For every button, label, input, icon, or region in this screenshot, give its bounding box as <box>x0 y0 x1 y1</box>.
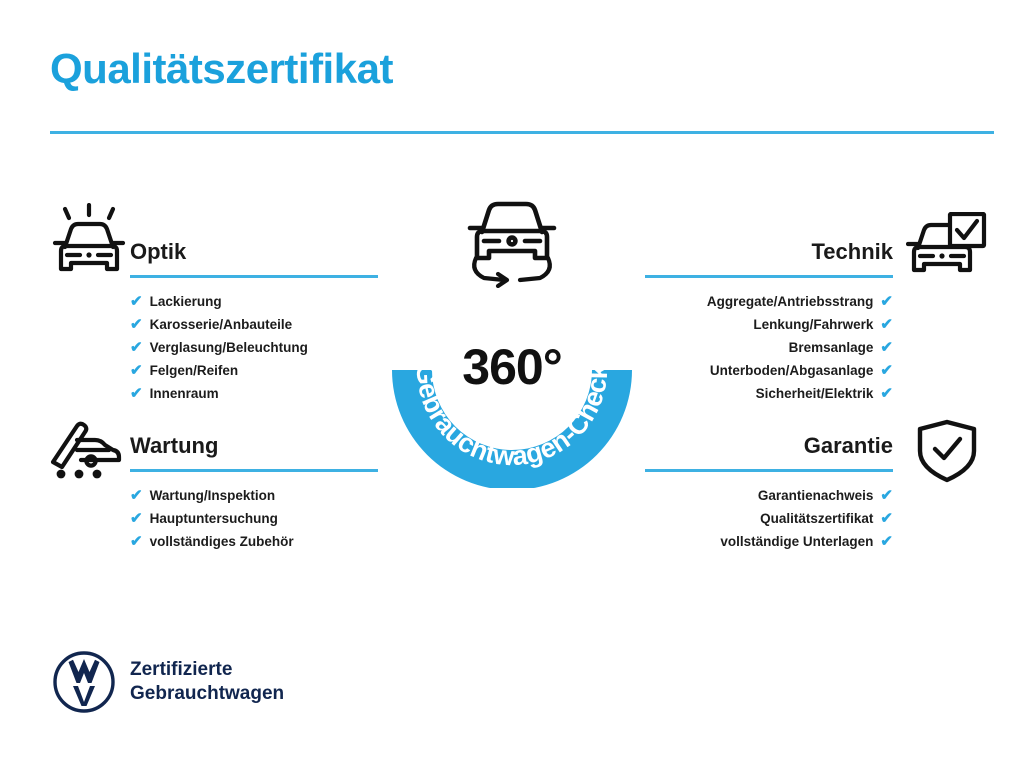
section-title-technik: Technik <box>645 238 893 266</box>
title-divider <box>50 131 994 134</box>
section-title-optik: Optik <box>130 238 378 266</box>
volkswagen-certified-logo: Zertifizierte Gebrauchtwagen <box>52 650 284 714</box>
check-icon: ✔ <box>880 386 893 401</box>
list-item: ✔Wartung/Inspektion <box>130 484 378 507</box>
section-optik: Optik ✔Lackierung ✔Karosserie/Anbauteile… <box>130 238 378 405</box>
list-item: Aggregate/Antriebsstrang✔ <box>645 290 893 313</box>
check-icon: ✔ <box>130 363 143 378</box>
list-item: Bremsanlage✔ <box>645 336 893 359</box>
list-item-label: Innenraum <box>150 382 219 405</box>
check-icon: ✔ <box>880 488 893 503</box>
check-icon: ✔ <box>880 534 893 549</box>
list-item-label: Hauptuntersuchung <box>150 507 278 530</box>
section-divider-wartung <box>130 469 378 472</box>
checklist-optik: ✔Lackierung ✔Karosserie/Anbauteile ✔Verg… <box>130 290 378 405</box>
logo-text: Zertifizierte Gebrauchtwagen <box>130 658 284 706</box>
section-garantie: Garantie Garantienachweis✔ Qualitätszert… <box>645 432 893 553</box>
section-header-technik: Technik <box>645 238 893 278</box>
list-item-label: Lackierung <box>150 290 222 313</box>
check-icon: ✔ <box>880 294 893 309</box>
checklist-technik: Aggregate/Antriebsstrang✔ Lenkung/Fahrwe… <box>645 290 893 405</box>
car-checkbox-icon <box>906 212 988 280</box>
list-item-label: Karosserie/Anbauteile <box>150 313 293 336</box>
list-item: ✔Verglasung/Beleuchtung <box>130 336 378 359</box>
check-icon: ✔ <box>130 340 143 355</box>
list-item: Unterboden/Abgasanlage✔ <box>645 359 893 382</box>
section-divider-garantie <box>645 469 893 472</box>
check-icon: ✔ <box>130 386 143 401</box>
list-item-label: Felgen/Reifen <box>150 359 239 382</box>
list-item: ✔Lackierung <box>130 290 378 313</box>
check-icon: ✔ <box>130 511 143 526</box>
section-title-garantie: Garantie <box>645 432 893 460</box>
list-item: ✔vollständiges Zubehör <box>130 530 378 553</box>
section-header-optik: Optik <box>130 238 378 278</box>
check-icon: ✔ <box>130 488 143 503</box>
logo-text-line1: Zertifizierte <box>130 658 284 682</box>
check-icon: ✔ <box>880 363 893 378</box>
car-rotate-icon <box>460 196 564 288</box>
list-item-label: Wartung/Inspektion <box>150 484 276 507</box>
shield-check-icon <box>912 418 982 484</box>
list-item-label: Aggregate/Antriebsstrang <box>707 290 874 313</box>
list-item-label: Verglasung/Beleuchtung <box>150 336 308 359</box>
check-icon: ✔ <box>880 340 893 355</box>
check-icon: ✔ <box>130 534 143 549</box>
list-item: ✔Hauptuntersuchung <box>130 507 378 530</box>
section-wartung: Wartung ✔Wartung/Inspektion ✔Hauptunters… <box>130 432 378 553</box>
car-front-shine-icon <box>47 203 131 279</box>
list-item-label: Lenkung/Fahrwerk <box>753 313 873 336</box>
section-header-wartung: Wartung <box>130 432 378 472</box>
badge-360-check: Gebrauchtwagen-Check 360° <box>374 196 650 488</box>
list-item-label: Garantienachweis <box>758 484 874 507</box>
checklist-wartung: ✔Wartung/Inspektion ✔Hauptuntersuchung ✔… <box>130 484 378 553</box>
check-icon: ✔ <box>880 317 893 332</box>
list-item-label: Unterboden/Abgasanlage <box>710 359 874 382</box>
section-technik: Technik Aggregate/Antriebsstrang✔ Lenkun… <box>645 238 893 405</box>
section-title-wartung: Wartung <box>130 432 378 460</box>
list-item-label: vollständiges Zubehör <box>150 530 294 553</box>
check-icon: ✔ <box>130 317 143 332</box>
list-item: Sicherheit/Elektrik✔ <box>645 382 893 405</box>
list-item: vollständige Unterlagen✔ <box>645 530 893 553</box>
list-item: ✔Innenraum <box>130 382 378 405</box>
check-icon: ✔ <box>130 294 143 309</box>
checklist-garantie: Garantienachweis✔ Qualitätszertifikat✔ v… <box>645 484 893 553</box>
page-title: Qualitätszertifikat <box>50 48 393 90</box>
list-item-label: Bremsanlage <box>789 336 874 359</box>
volkswagen-logo <box>52 650 116 714</box>
section-divider-optik <box>130 275 378 278</box>
list-item: Qualitätszertifikat✔ <box>645 507 893 530</box>
car-service-wrench-icon <box>47 416 131 480</box>
section-divider-technik <box>645 275 893 278</box>
list-item: Garantienachweis✔ <box>645 484 893 507</box>
list-item: Lenkung/Fahrwerk✔ <box>645 313 893 336</box>
list-item: ✔Felgen/Reifen <box>130 359 378 382</box>
logo-text-line2: Gebrauchtwagen <box>130 682 284 706</box>
list-item-label: Qualitätszertifikat <box>760 507 873 530</box>
list-item-label: Sicherheit/Elektrik <box>756 382 874 405</box>
badge-value: 360° <box>374 338 650 396</box>
section-header-garantie: Garantie <box>645 432 893 472</box>
list-item-label: vollständige Unterlagen <box>720 530 873 553</box>
check-icon: ✔ <box>880 511 893 526</box>
list-item: ✔Karosserie/Anbauteile <box>130 313 378 336</box>
